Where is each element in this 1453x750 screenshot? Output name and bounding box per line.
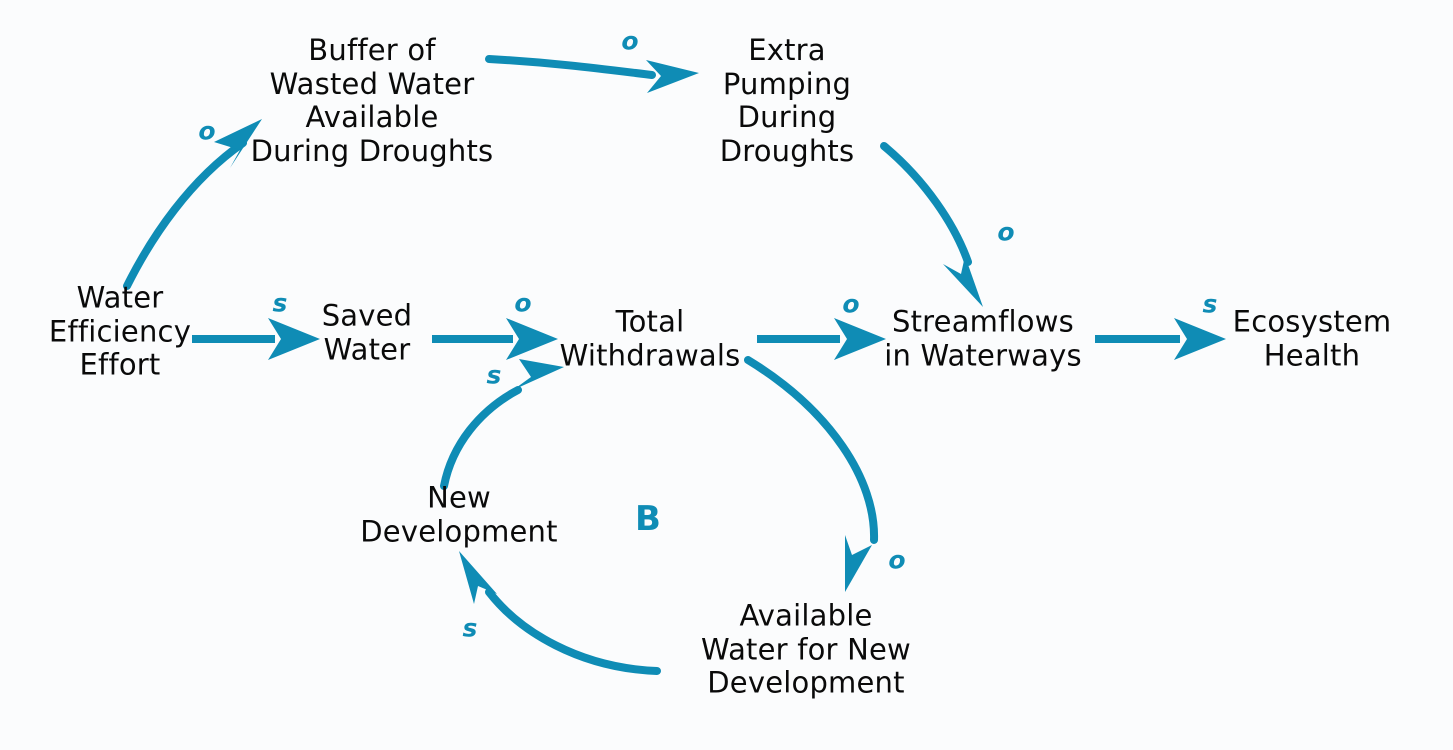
polarity-label-buffer-to-extra-pumping: o	[621, 29, 638, 54]
link-streamflows-to-ecosystem-health	[1095, 318, 1226, 360]
node-ecosystem-health[interactable]: Ecosystem Health	[1233, 305, 1392, 372]
polarity-label-saved-water-to-total-withdrawals: o	[514, 291, 531, 316]
node-new-development[interactable]: New Development	[360, 481, 557, 548]
arrow-head	[834, 318, 886, 360]
link-new-development-to-total-withdrawals	[444, 359, 564, 486]
arrow-head	[459, 551, 497, 604]
node-available-water-for-new-development[interactable]: Available Water for New Development	[701, 600, 911, 701]
polarity-label-total-withdrawals-to-streamflows: o	[842, 292, 859, 317]
balancing-loop-marker: B	[635, 502, 661, 536]
arrow-head	[845, 535, 872, 592]
arrow-head	[506, 318, 558, 360]
edge-path	[444, 390, 518, 486]
polarity-label-available-water-to-new-development: s	[463, 616, 478, 641]
polarity-label-effort-to-saved-water: s	[273, 291, 288, 316]
polarity-label-streamflows-to-ecosystem-health: s	[1203, 292, 1218, 317]
node-total-withdrawals[interactable]: Total Withdrawals	[560, 305, 741, 372]
arrow-head	[943, 256, 983, 307]
link-effort-to-buffer	[127, 119, 262, 286]
arrow-head	[646, 60, 699, 93]
arrow-head	[1174, 318, 1226, 360]
polarity-label-extra-pumping-to-streamflows: o	[997, 220, 1014, 245]
edge-path	[489, 59, 652, 75]
polarity-label-new-development-to-total-withdrawals: s	[487, 363, 502, 388]
node-saved-water[interactable]: Saved Water	[322, 299, 413, 366]
node-extra-pumping-during-droughts[interactable]: Extra Pumping During Droughts	[720, 34, 855, 169]
edge-path	[748, 360, 874, 540]
node-water-efficiency-effort[interactable]: Water Efficiency Effort	[49, 282, 191, 383]
link-available-water-to-new-development	[459, 551, 657, 671]
node-buffer-of-wasted-water[interactable]: Buffer of Wasted Water Available During …	[251, 34, 494, 169]
edge-path	[489, 592, 657, 671]
causal-loop-diagram-canvas: Water Efficiency Effort Buffer of Wasted…	[0, 0, 1453, 750]
link-total-withdrawals-to-available-water	[748, 360, 874, 592]
link-buffer-to-extra-pumping	[489, 59, 699, 93]
arrow-head	[268, 318, 320, 360]
link-extra-pumping-to-streamflows	[884, 146, 983, 307]
node-streamflows-in-waterways[interactable]: Streamflows in Waterways	[884, 305, 1082, 372]
edge-path	[127, 143, 243, 286]
link-effort-to-saved-water	[192, 318, 320, 360]
edge-path	[884, 146, 968, 262]
arrow-head	[513, 359, 564, 390]
polarity-label-effort-to-buffer: o	[198, 119, 215, 144]
link-saved-water-to-total-withdrawals	[432, 318, 558, 360]
link-total-withdrawals-to-streamflows	[757, 318, 886, 360]
polarity-label-total-withdrawals-to-available-water: o	[888, 548, 905, 573]
